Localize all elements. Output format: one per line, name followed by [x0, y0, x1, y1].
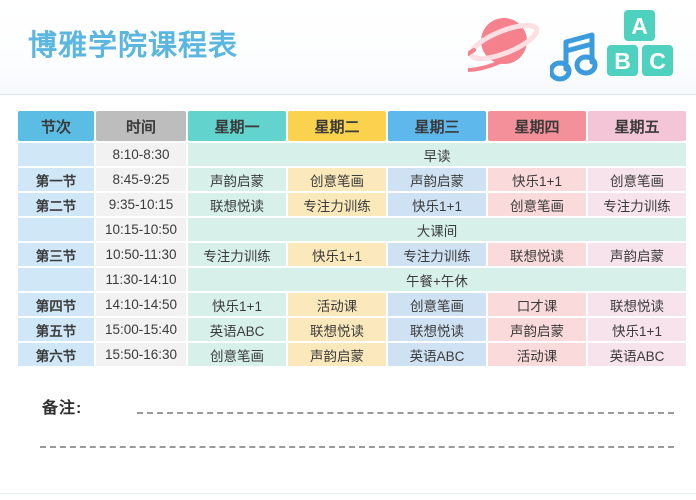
cell-course-thursday: 活动课	[488, 343, 586, 366]
cell-period: 第二节	[18, 193, 94, 216]
cell-course-monday: 英语ABC	[188, 318, 286, 341]
cell-course-tuesday: 活动课	[288, 293, 386, 316]
column-header-monday: 星期一	[188, 111, 286, 141]
cell-course-monday: 声韵启蒙	[188, 168, 286, 191]
table-row: 8:10-8:30早读	[18, 143, 686, 166]
music-note-icon	[550, 28, 600, 89]
cell-course-monday: 创意笔画	[188, 343, 286, 366]
cell-course-thursday: 创意笔画	[488, 193, 586, 216]
decorative-icon-group: A B C	[468, 6, 678, 90]
cell-course-thursday: 快乐1+1	[488, 168, 586, 191]
cell-course-tuesday: 声韵启蒙	[288, 343, 386, 366]
cell-period: 第六节	[18, 343, 94, 366]
remarks-section: 备注:	[22, 390, 674, 460]
planet-icon	[468, 12, 542, 79]
cell-course-tuesday: 专注力训练	[288, 193, 386, 216]
table-row: 第三节10:50-11:30专注力训练快乐1+1专注力训练联想悦读声韵启蒙	[18, 243, 686, 266]
cell-course-friday: 创意笔画	[588, 168, 686, 191]
cell-course-wednesday: 快乐1+1	[388, 193, 486, 216]
remarks-write-line-1[interactable]	[137, 412, 674, 414]
table-row: 第四节14:10-14:50快乐1+1活动课创意笔画口才课联想悦读	[18, 293, 686, 316]
cell-period: 第三节	[18, 243, 94, 266]
cell-course-friday: 声韵启蒙	[588, 243, 686, 266]
cell-course-wednesday: 联想悦读	[388, 318, 486, 341]
page-title: 博雅学院课程表	[28, 22, 238, 64]
column-header-tuesday: 星期二	[288, 111, 386, 141]
cell-time: 15:50-16:30	[96, 343, 186, 366]
cell-period: 第四节	[18, 293, 94, 316]
cell-span-activity: 早读	[188, 143, 686, 166]
cell-course-monday: 联想悦读	[188, 193, 286, 216]
cell-time: 8:45-9:25	[96, 168, 186, 191]
table-row: 11:30-14:10午餐+午休	[18, 268, 686, 291]
cell-time: 10:15-10:50	[96, 218, 186, 241]
cell-time: 14:10-14:50	[96, 293, 186, 316]
cell-time: 10:50-11:30	[96, 243, 186, 266]
cell-time: 8:10-8:30	[96, 143, 186, 166]
abc-blocks-icon: A B C	[604, 8, 676, 87]
cell-period	[18, 268, 94, 291]
page-header: 博雅学院课程表	[0, 0, 696, 95]
cell-period	[18, 143, 94, 166]
table-header-row: 节次 时间 星期一 星期二 星期三 星期四 星期五	[18, 111, 686, 141]
table-row: 10:15-10:50大课间	[18, 218, 686, 241]
cell-course-thursday: 口才课	[488, 293, 586, 316]
column-header-period: 节次	[18, 111, 94, 141]
svg-text:C: C	[649, 48, 666, 74]
column-header-friday: 星期五	[588, 111, 686, 141]
schedule-table-body: 8:10-8:30早读第一节8:45-9:25声韵启蒙创意笔画声韵启蒙快乐1+1…	[18, 143, 686, 366]
cell-time: 9:35-10:15	[96, 193, 186, 216]
cell-course-wednesday: 英语ABC	[388, 343, 486, 366]
svg-text:A: A	[631, 13, 648, 39]
svg-text:B: B	[614, 48, 631, 74]
table-row: 第五节15:00-15:40英语ABC联想悦读联想悦读声韵启蒙快乐1+1	[18, 318, 686, 341]
remarks-label: 备注:	[42, 394, 82, 418]
cell-span-activity: 午餐+午休	[188, 268, 686, 291]
cell-course-friday: 快乐1+1	[588, 318, 686, 341]
cell-course-tuesday: 联想悦读	[288, 318, 386, 341]
schedule-table-wrap: 节次 时间 星期一 星期二 星期三 星期四 星期五 8:10-8:30早读第一节…	[0, 95, 696, 368]
cell-course-friday: 联想悦读	[588, 293, 686, 316]
remarks-write-line-2[interactable]	[40, 446, 674, 448]
cell-course-thursday: 声韵启蒙	[488, 318, 586, 341]
table-row: 第二节9:35-10:15联想悦读专注力训练快乐1+1创意笔画专注力训练	[18, 193, 686, 216]
table-row: 第六节15:50-16:30创意笔画声韵启蒙英语ABC活动课英语ABC	[18, 343, 686, 366]
cell-course-thursday: 联想悦读	[488, 243, 586, 266]
column-header-time: 时间	[96, 111, 186, 141]
cell-period	[18, 218, 94, 241]
cell-course-wednesday: 创意笔画	[388, 293, 486, 316]
cell-time: 11:30-14:10	[96, 268, 186, 291]
schedule-table: 节次 时间 星期一 星期二 星期三 星期四 星期五 8:10-8:30早读第一节…	[16, 109, 688, 368]
cell-course-monday: 专注力训练	[188, 243, 286, 266]
cell-course-tuesday: 快乐1+1	[288, 243, 386, 266]
column-header-thursday: 星期四	[488, 111, 586, 141]
cell-course-tuesday: 创意笔画	[288, 168, 386, 191]
footer-divider	[0, 493, 696, 494]
cell-course-wednesday: 声韵启蒙	[388, 168, 486, 191]
cell-period: 第五节	[18, 318, 94, 341]
cell-course-wednesday: 专注力训练	[388, 243, 486, 266]
cell-time: 15:00-15:40	[96, 318, 186, 341]
column-header-wednesday: 星期三	[388, 111, 486, 141]
cell-course-monday: 快乐1+1	[188, 293, 286, 316]
cell-span-activity: 大课间	[188, 218, 686, 241]
schedule-page: 博雅学院课程表	[0, 0, 696, 500]
cell-course-friday: 英语ABC	[588, 343, 686, 366]
table-row: 第一节8:45-9:25声韵启蒙创意笔画声韵启蒙快乐1+1创意笔画	[18, 168, 686, 191]
cell-period: 第一节	[18, 168, 94, 191]
cell-course-friday: 专注力训练	[588, 193, 686, 216]
